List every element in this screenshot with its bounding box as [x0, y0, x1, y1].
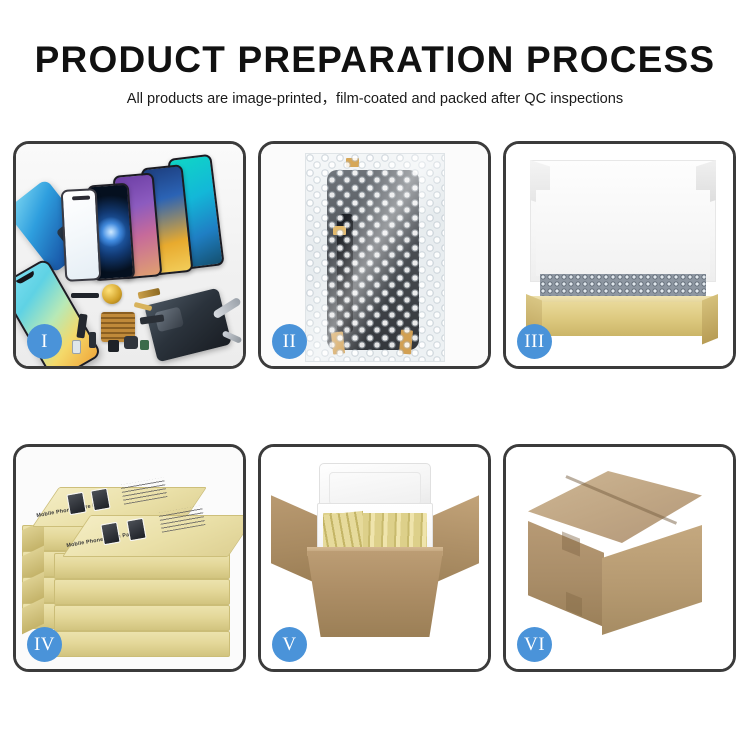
- page-header: PRODUCT PREPARATION PROCESS All products…: [0, 38, 750, 109]
- step-badge-5: V: [272, 627, 307, 662]
- yellow-box-right-icon: [702, 294, 718, 344]
- process-step-panel-5[interactable]: V: [258, 444, 491, 672]
- process-step-grid: I II: [13, 141, 737, 692]
- process-step-panel-4[interactable]: Mobile Phone Spare Parts Mobile Phone Sp…: [13, 444, 246, 672]
- carton-body-icon: [307, 551, 443, 637]
- step-badge-6: VI: [517, 627, 552, 662]
- box-screen-art-front-1: [100, 522, 120, 546]
- page-title: PRODUCT PREPARATION PROCESS: [0, 38, 750, 82]
- retail-box-layer: [54, 579, 230, 605]
- step-badge-1: I: [27, 324, 62, 359]
- camera-module-part-icon: [124, 336, 138, 349]
- gold-coil-part-icon: [102, 284, 122, 304]
- yellow-box-front-icon: [526, 302, 718, 336]
- step-badge-4: IV: [27, 627, 62, 662]
- screen-protector-icon: [61, 188, 102, 282]
- retail-box-top-face: [62, 515, 246, 557]
- green-pcb-part-icon: [140, 340, 149, 350]
- speaker-part-icon: [108, 340, 119, 352]
- white-inner-panel-icon: [536, 190, 710, 276]
- sim-tray-part-icon: [72, 340, 81, 354]
- process-step-panel-1[interactable]: I: [13, 141, 246, 369]
- small-module-part-icon: [89, 332, 96, 348]
- plastic-sheen-overlay: [306, 154, 444, 361]
- product-preparation-process-page: PRODUCT PREPARATION PROCESS All products…: [0, 0, 750, 750]
- retail-box-layer: [54, 605, 230, 631]
- box-screen-art-front-2: [126, 518, 146, 542]
- step-badge-3: III: [517, 324, 552, 359]
- box-screen-art-rear-2: [90, 488, 110, 512]
- page-subtitle: All products are image-printed，film-coat…: [0, 89, 750, 109]
- bubble-wrap-bag-icon: [305, 153, 445, 362]
- step-badge-2: II: [272, 324, 307, 359]
- process-step-panel-6[interactable]: VI: [503, 444, 736, 672]
- process-step-panel-2[interactable]: II: [258, 141, 491, 369]
- retail-box-layer: [54, 631, 230, 657]
- process-step-panel-3[interactable]: III: [503, 141, 736, 369]
- box-screen-art-rear-1: [66, 492, 86, 516]
- flex-cable-part-icon: [71, 293, 99, 298]
